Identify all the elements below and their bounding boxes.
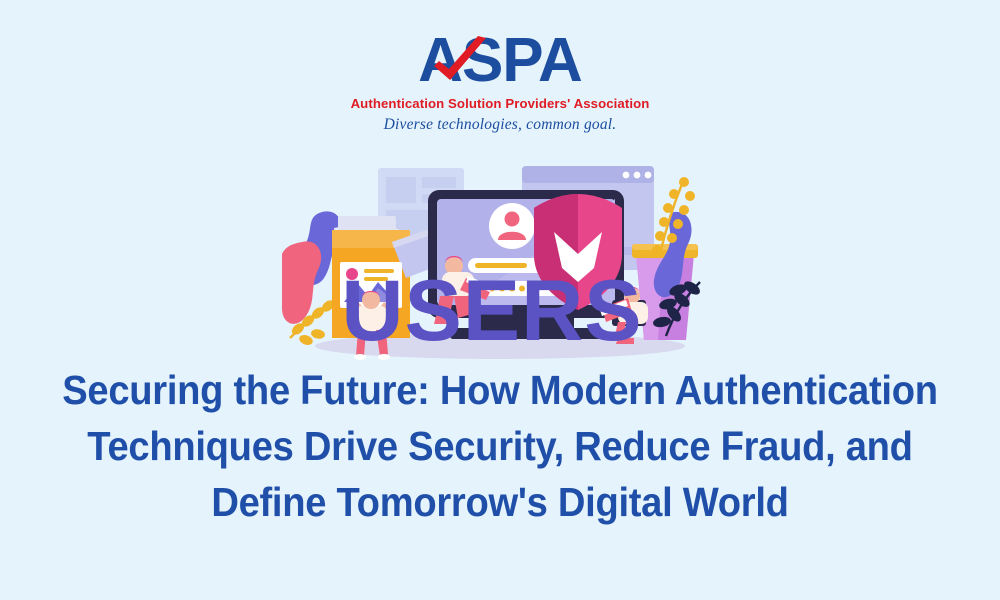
headline-line-1: Securing the Future: How Modern Authenti…: [35, 362, 965, 418]
logo-subtitle: Authentication Solution Providers' Assoc…: [0, 96, 1000, 111]
logo-wordmark-text: ASPA: [418, 30, 582, 92]
page-title: Securing the Future: How Modern Authenti…: [0, 362, 1000, 530]
banner-root: ASPA Authentication Solution Providers' …: [0, 0, 1000, 600]
headline-line-3: Define Tomorrow's Digital World: [35, 474, 965, 530]
logo-wordmark-group: ASPA: [418, 30, 582, 92]
hero-illustration: USERS: [282, 150, 702, 360]
logo-tagline: Diverse technologies, common goal.: [0, 116, 1000, 134]
headline-line-2: Techniques Drive Security, Reduce Fraud,…: [35, 418, 965, 474]
users-wordmark: USERS: [341, 263, 642, 359]
aspa-logo: ASPA Authentication Solution Providers' …: [0, 30, 1000, 134]
